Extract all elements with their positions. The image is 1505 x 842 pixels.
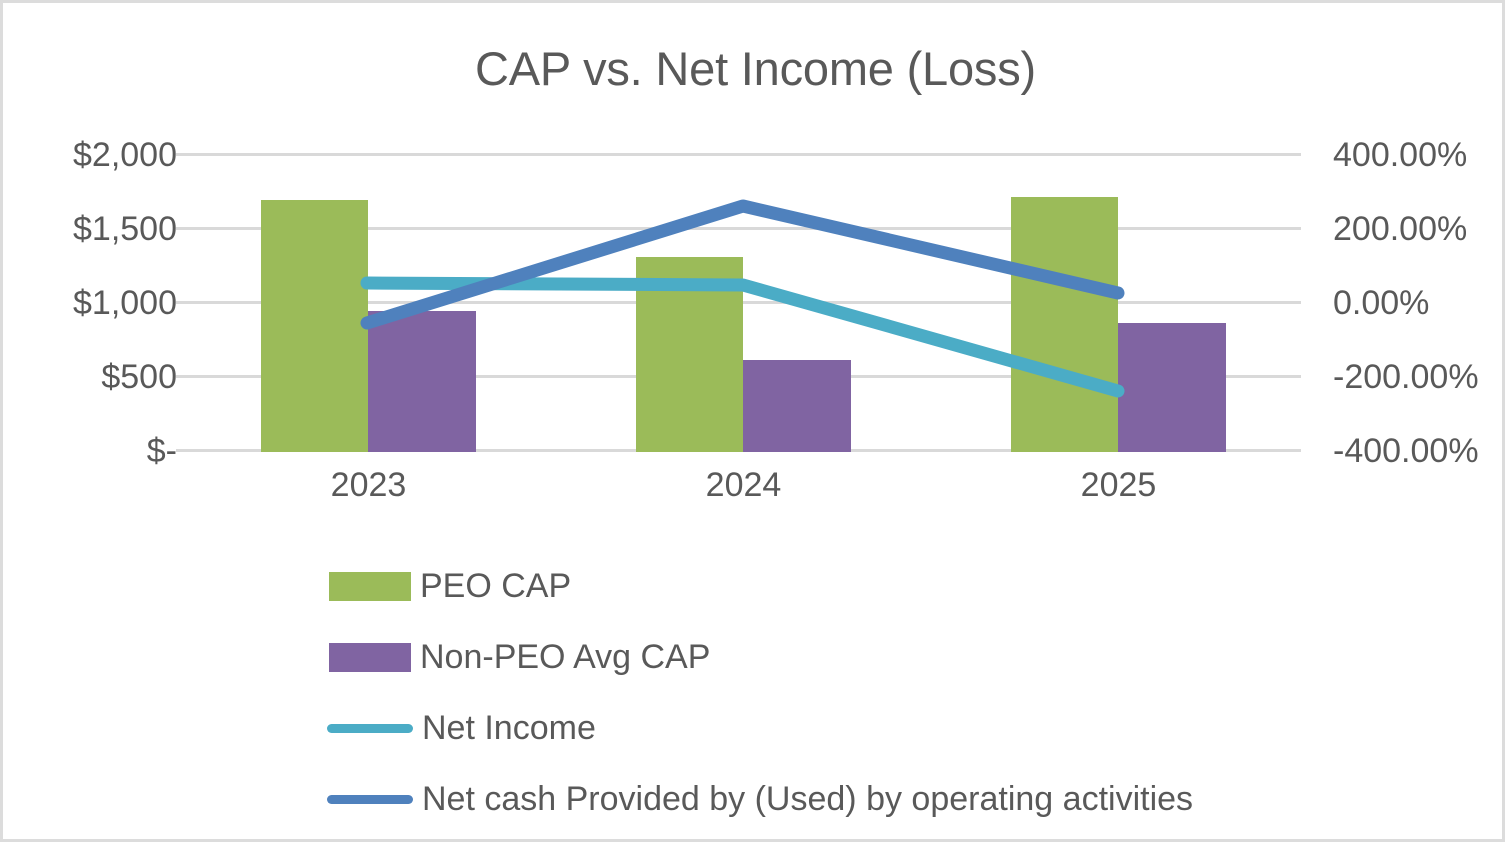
legend-label-peo-cap: PEO CAP — [420, 567, 571, 606]
left-axis-tick-2000: $2,000 — [37, 136, 177, 175]
plot-area — [176, 153, 1301, 452]
left-axis-tick-1000: $1,000 — [37, 284, 177, 323]
left-axis-tick-1500: $1,500 — [37, 210, 177, 249]
legend-item-net-income[interactable]: Net Income — [329, 693, 1193, 764]
legend-swatch-icon-non-peo-avg-cap — [329, 643, 411, 672]
right-axis-tick-400: 400.00% — [1333, 136, 1505, 175]
legend-label-net-income: Net Income — [422, 709, 596, 748]
legend-item-peo-cap[interactable]: PEO CAP — [329, 551, 1193, 622]
x-axis-label-2025: 2025 — [1011, 466, 1226, 505]
left-axis-tick-500: $500 — [37, 358, 177, 397]
chart-legend: PEO CAP Non-PEO Avg CAP Net Income Net c… — [329, 551, 1193, 835]
bar-peo-cap-2024[interactable] — [636, 257, 743, 452]
x-axis-label-2024: 2024 — [636, 466, 851, 505]
bar-non-peo-avg-cap-2023[interactable] — [368, 311, 476, 452]
chart-container: CAP vs. Net Income (Loss) $2,000 $1,500 … — [0, 0, 1505, 842]
legend-line-icon-net-cash — [327, 795, 413, 804]
right-axis-tick-200: 200.00% — [1333, 210, 1505, 249]
x-axis-label-2023: 2023 — [261, 466, 476, 505]
right-axis-tick-neg400: -400.00% — [1333, 432, 1505, 471]
legend-item-non-peo-avg-cap[interactable]: Non-PEO Avg CAP — [329, 622, 1193, 693]
legend-item-net-cash[interactable]: Net cash Provided by (Used) by operating… — [329, 764, 1193, 835]
legend-swatch-icon-peo-cap — [329, 572, 411, 601]
right-axis-tick-0: 0.00% — [1333, 284, 1505, 323]
legend-label-net-cash: Net cash Provided by (Used) by operating… — [422, 780, 1193, 819]
legend-line-icon-net-income — [327, 724, 413, 733]
legend-label-non-peo-avg-cap: Non-PEO Avg CAP — [420, 638, 710, 677]
right-axis-tick-neg200: -200.00% — [1333, 358, 1505, 397]
bar-non-peo-avg-cap-2024[interactable] — [743, 360, 851, 452]
bar-peo-cap-2023[interactable] — [261, 200, 368, 452]
chart-title: CAP vs. Net Income (Loss) — [3, 41, 1505, 96]
left-axis-tick-0: $- — [37, 432, 177, 471]
gridline-2000 — [176, 153, 1301, 156]
bar-peo-cap-2025[interactable] — [1011, 197, 1118, 452]
bar-non-peo-avg-cap-2025[interactable] — [1118, 323, 1226, 452]
